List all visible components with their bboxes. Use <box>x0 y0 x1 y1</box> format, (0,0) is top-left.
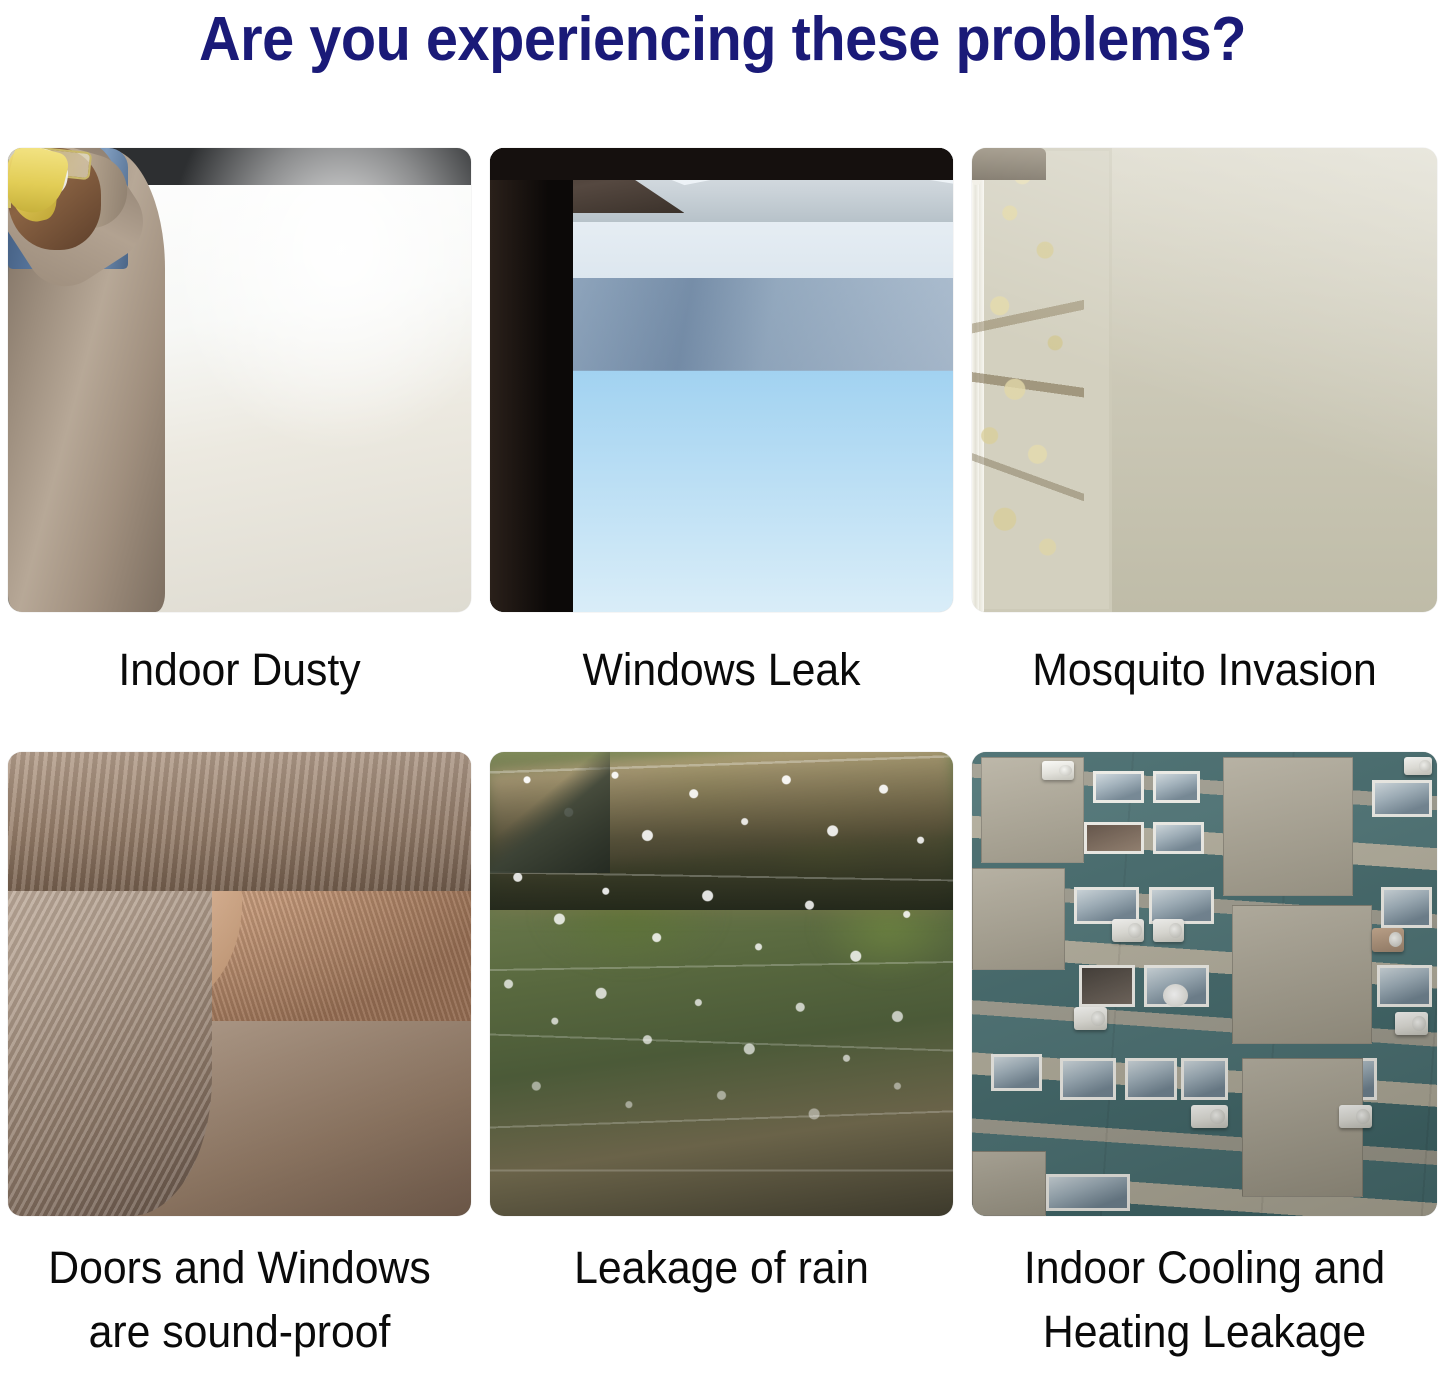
caption-leakage-of-rain: Leakage of rain <box>502 1216 942 1366</box>
problem-card-leakage-of-rain[interactable]: Leakage of rain <box>490 752 953 1366</box>
caption-sound-proof: Doors and Windows are sound-proof <box>20 1216 460 1366</box>
problem-card-mosquito-invasion[interactable]: Mosquito Invasion <box>972 148 1437 752</box>
page-title: Are you experiencing these problems? <box>51 2 1395 78</box>
caption-windows-leak: Windows Leak <box>502 612 942 752</box>
problem-card-indoor-dusty[interactable]: Indoor Dusty <box>8 148 471 752</box>
photo-rain-on-glass <box>490 752 953 1216</box>
promo-banner: Are you experiencing these problems? <box>0 0 1445 1382</box>
problem-card-cooling-heating-leakage[interactable]: Indoor Cooling and Heating Leakage <box>972 752 1437 1366</box>
photo-windows-leak <box>490 148 953 612</box>
caption-cooling-heating-leakage: Indoor Cooling and Heating Leakage <box>984 1216 1426 1366</box>
caption-mosquito-invasion: Mosquito Invasion <box>984 612 1426 752</box>
photo-apartment-facade <box>972 752 1437 1216</box>
problem-card-sound-proof[interactable]: Doors and Windows are sound-proof <box>8 752 471 1366</box>
caption-indoor-dusty: Indoor Dusty <box>20 612 460 752</box>
problem-grid: Indoor Dusty <box>8 148 1437 1366</box>
problem-card-windows-leak[interactable]: Windows Leak <box>490 148 953 752</box>
photo-mosquito-invasion <box>972 148 1437 612</box>
photo-sleeping-baby <box>8 752 471 1216</box>
photo-indoor-dusty <box>8 148 471 612</box>
